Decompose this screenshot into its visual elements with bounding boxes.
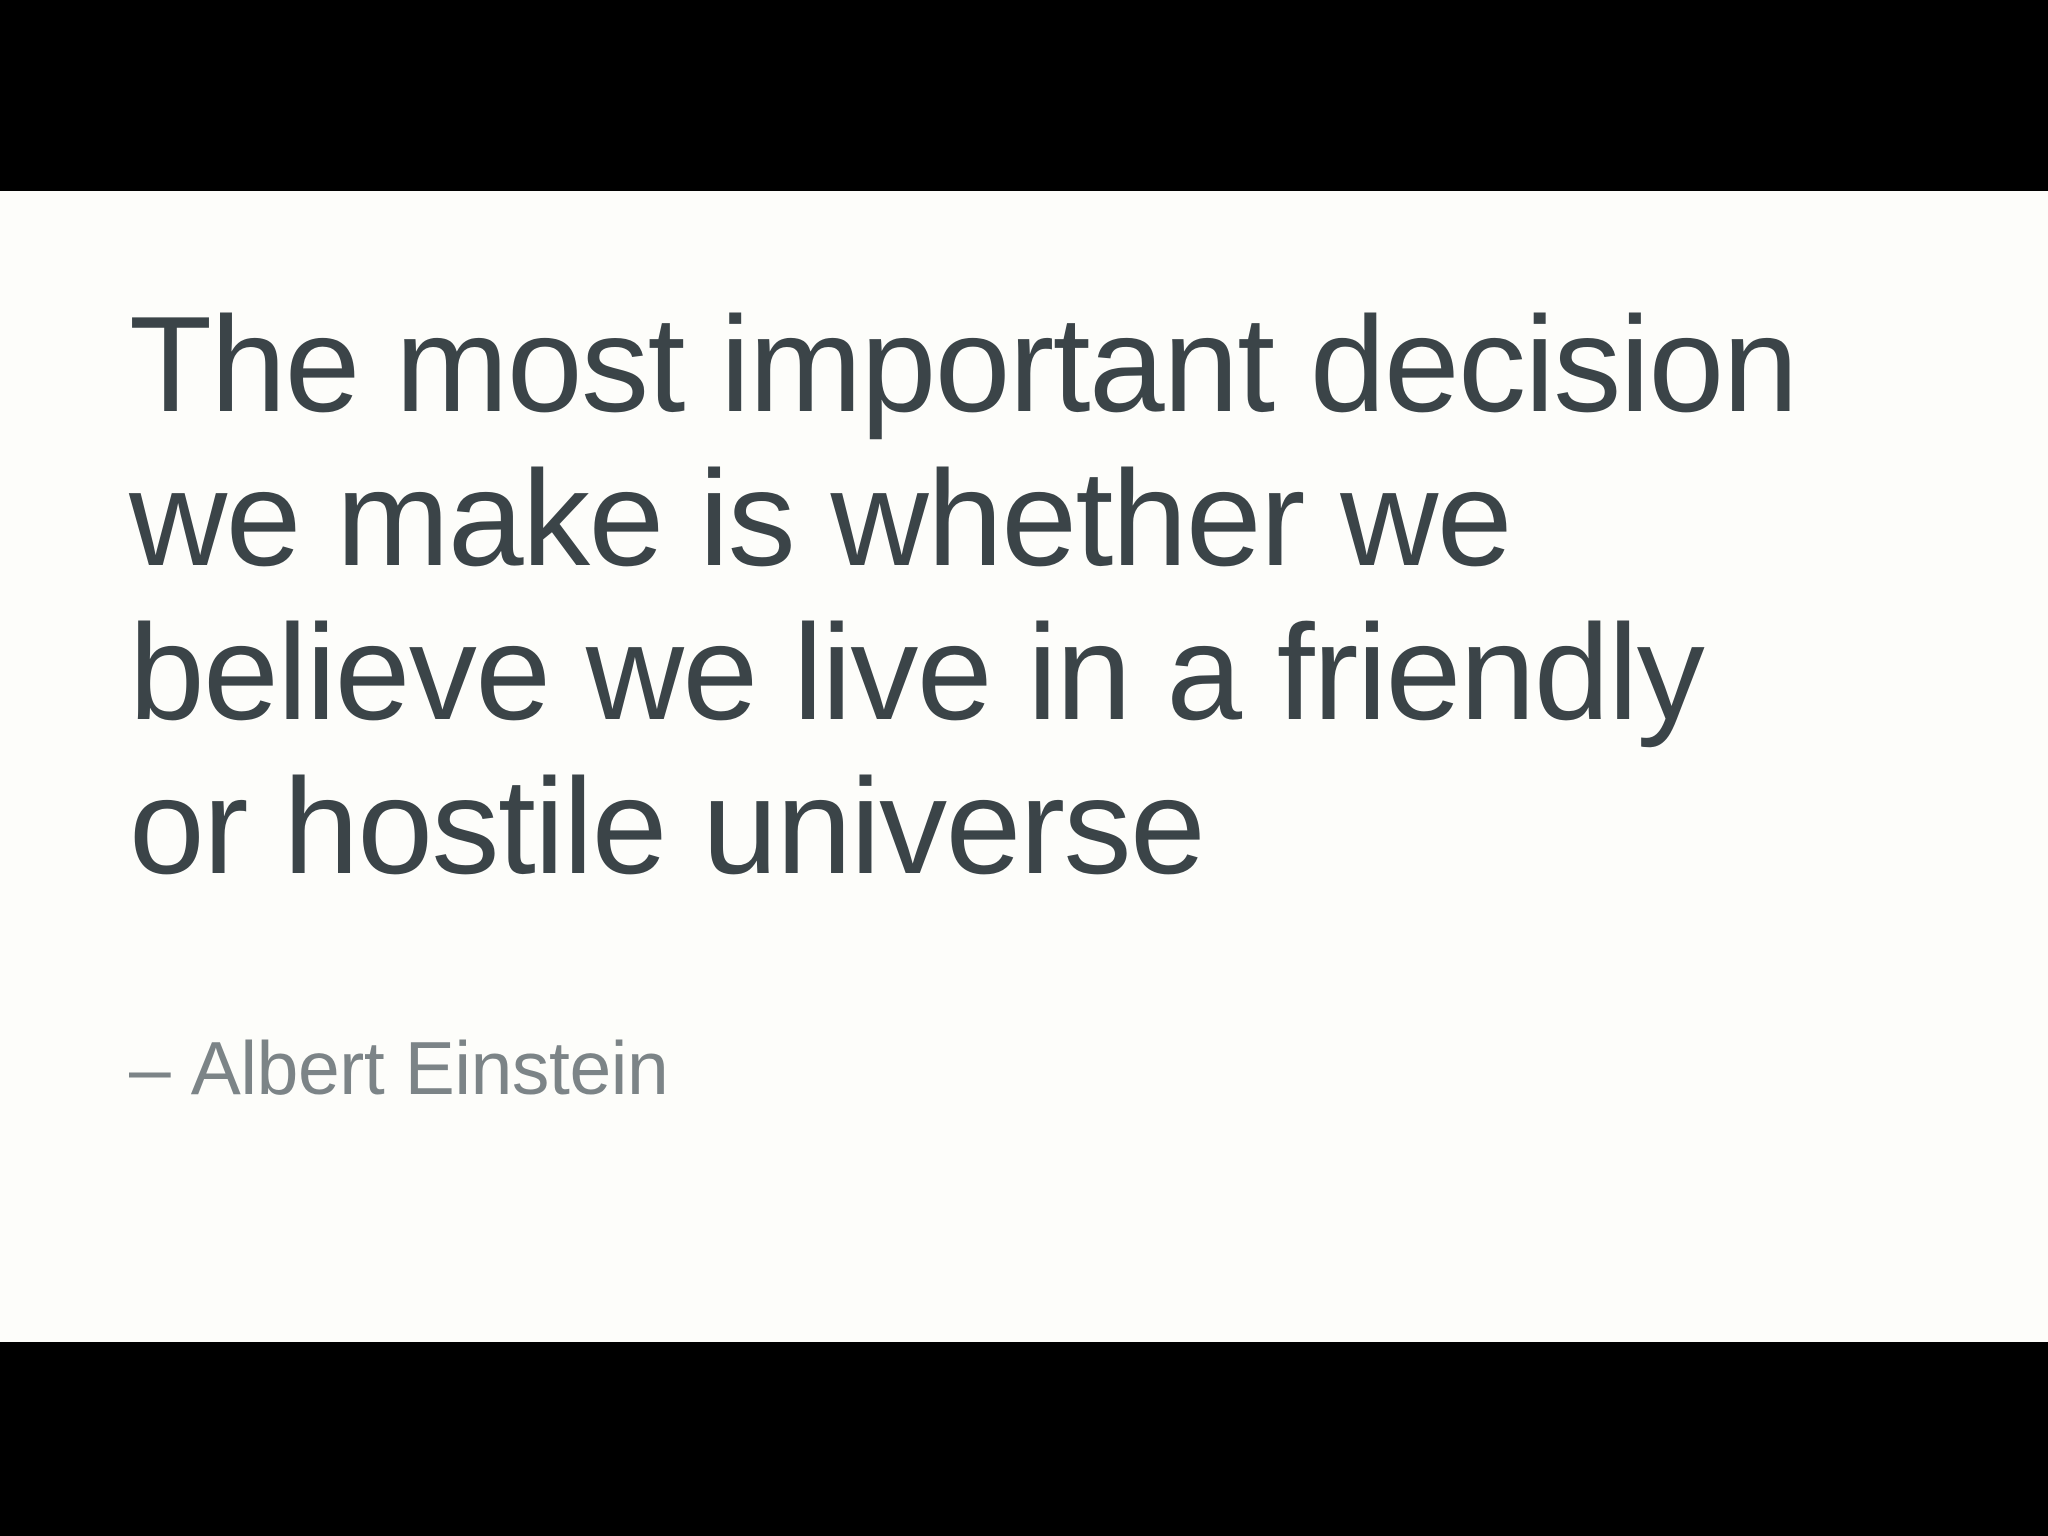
quote-line-4: or hostile universe xyxy=(129,749,1959,903)
attribution-author-name: Albert Einstein xyxy=(191,1026,669,1110)
quote-attribution: – Albert Einstein xyxy=(129,1025,668,1111)
slide-frame: The most important decision we make is w… xyxy=(0,0,2048,1536)
quote-line-1: The most important decision xyxy=(129,287,1959,441)
quote-line-2: we make is whether we xyxy=(129,441,1959,595)
slide-canvas: The most important decision we make is w… xyxy=(0,191,2048,1342)
attribution-dash: – xyxy=(129,1026,170,1110)
letterbox-bar-top xyxy=(0,0,2048,191)
quote-text-block: The most important decision we make is w… xyxy=(129,287,1959,903)
quote-line-3: believe we live in a friendly xyxy=(129,595,1959,749)
letterbox-bar-bottom xyxy=(0,1342,2048,1536)
attribution-spacer xyxy=(170,1026,190,1110)
